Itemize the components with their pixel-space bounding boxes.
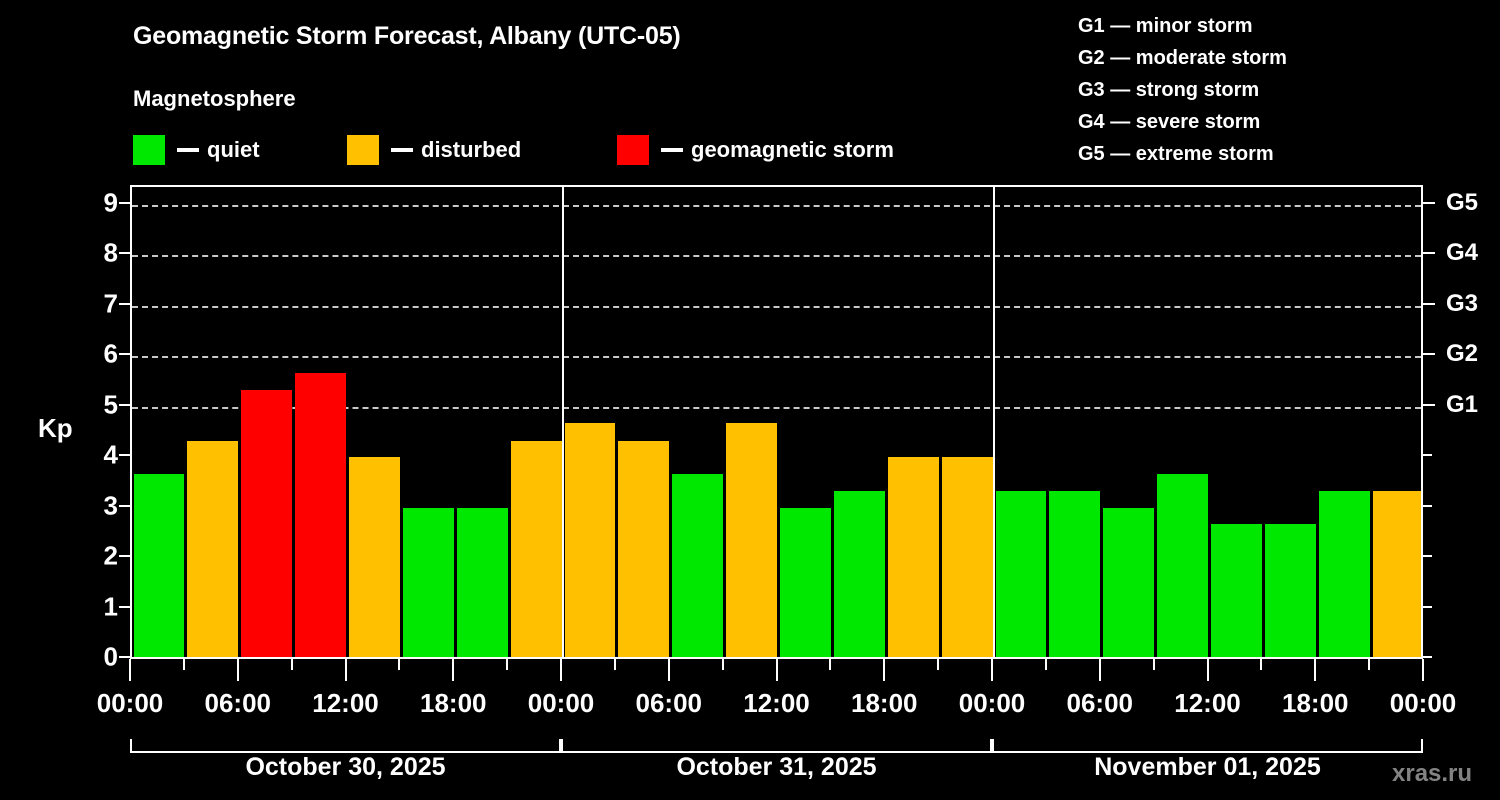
y-tick-label-3: 3	[78, 490, 118, 521]
bar	[618, 441, 669, 659]
bar	[834, 491, 885, 659]
x-tick-minor	[183, 659, 185, 670]
bar	[457, 508, 508, 659]
legend-dash-icon	[391, 148, 413, 152]
bar	[1319, 491, 1370, 659]
right-tick-mark-1	[1423, 606, 1432, 608]
x-tick-major	[129, 659, 131, 681]
y-tick-label-0: 0	[78, 642, 118, 673]
day-separator	[562, 187, 564, 659]
x-tick-label: 00:00	[959, 688, 1026, 719]
y-tick-mark-4	[119, 454, 130, 456]
legend-label-geomagnetic-storm: geomagnetic storm	[691, 137, 894, 163]
y-tick-mark-7	[119, 303, 130, 305]
bar	[295, 373, 346, 659]
watermark: xras.ru	[1392, 760, 1472, 788]
y-tick-mark-8	[119, 252, 130, 254]
x-tick-label: 12:00	[312, 688, 379, 719]
x-tick-minor	[398, 659, 400, 670]
bar	[511, 441, 562, 659]
x-tick-major	[991, 659, 993, 681]
x-tick-label: 06:00	[636, 688, 703, 719]
x-tick-label: 12:00	[1174, 688, 1241, 719]
y-tick-mark-6	[119, 353, 130, 355]
plot-area	[130, 185, 1423, 659]
right-tick-mark-3	[1423, 505, 1432, 507]
legend-swatch-disturbed	[347, 135, 379, 165]
bar	[1157, 474, 1208, 659]
bar	[888, 457, 939, 659]
legend-item-quiet: quiet	[133, 134, 260, 166]
day-label: October 31, 2025	[676, 753, 876, 782]
g-tick-mark-G3	[1423, 303, 1435, 305]
bar	[1211, 524, 1262, 659]
day-bracket	[992, 739, 1423, 753]
x-tick-major	[668, 659, 670, 681]
x-tick-major	[237, 659, 239, 681]
bar	[187, 441, 238, 659]
y-tick-mark-1	[119, 606, 130, 608]
g-tick-mark-G1	[1423, 404, 1435, 406]
g-scale-line-3: G3 — strong storm	[1078, 74, 1287, 106]
g-scale-line-5: G5 — extreme storm	[1078, 138, 1287, 170]
day-separator	[993, 187, 995, 659]
g-tick-mark-G5	[1423, 202, 1435, 204]
page-title: Geomagnetic Storm Forecast, Albany (UTC-…	[133, 22, 681, 51]
y-tick-mark-3	[119, 505, 130, 507]
bar	[565, 423, 616, 659]
bar	[1103, 508, 1154, 659]
g-scale-line-4: G4 — severe storm	[1078, 106, 1287, 138]
g-scale-line-2: G2 — moderate storm	[1078, 42, 1287, 74]
section-label: Magnetosphere	[133, 86, 296, 112]
gridline-kp-9	[132, 205, 1421, 207]
bar	[726, 423, 777, 659]
x-tick-minor	[291, 659, 293, 670]
x-tick-label: 00:00	[528, 688, 595, 719]
bar	[1049, 491, 1100, 659]
x-tick-minor	[614, 659, 616, 670]
plot-inner	[132, 187, 1421, 659]
x-tick-major	[560, 659, 562, 681]
g-tick-label-G1: G1	[1446, 391, 1478, 419]
bar	[672, 474, 723, 659]
y-tick-label-7: 7	[78, 288, 118, 319]
x-tick-label: 18:00	[1282, 688, 1349, 719]
x-tick-major	[883, 659, 885, 681]
x-tick-major	[345, 659, 347, 681]
y-tick-mark-2	[119, 555, 130, 557]
y-tick-label-1: 1	[78, 591, 118, 622]
day-label: November 01, 2025	[1094, 753, 1321, 782]
bar	[942, 457, 993, 659]
day-bracket	[130, 739, 561, 753]
legend-dash-icon	[661, 148, 683, 152]
x-tick-label: 00:00	[97, 688, 164, 719]
x-tick-major	[1314, 659, 1316, 681]
bar	[780, 508, 831, 659]
x-tick-minor	[829, 659, 831, 670]
x-tick-minor	[1045, 659, 1047, 670]
legend-item-geomagnetic-storm: geomagnetic storm	[617, 134, 894, 166]
x-tick-major	[452, 659, 454, 681]
legend-item-disturbed: disturbed	[347, 134, 521, 166]
bar	[996, 491, 1047, 659]
gridline-kp-8	[132, 255, 1421, 257]
g-tick-label-G2: G2	[1446, 340, 1478, 368]
x-tick-major	[776, 659, 778, 681]
x-tick-minor	[722, 659, 724, 670]
gridline-kp-7	[132, 306, 1421, 308]
x-tick-minor	[1153, 659, 1155, 670]
x-tick-major	[1099, 659, 1101, 681]
bar	[403, 508, 454, 659]
x-tick-label: 12:00	[743, 688, 810, 719]
x-tick-minor	[1260, 659, 1262, 670]
g-scale-legend: G1 — minor stormG2 — moderate stormG3 — …	[1078, 10, 1287, 170]
y-tick-label-4: 4	[78, 440, 118, 471]
bar	[241, 390, 292, 659]
y-tick-mark-5	[119, 404, 130, 406]
x-tick-minor	[937, 659, 939, 670]
day-label: October 30, 2025	[245, 753, 445, 782]
g-tick-label-G3: G3	[1446, 290, 1478, 318]
y-tick-label-8: 8	[78, 238, 118, 269]
x-tick-minor	[506, 659, 508, 670]
right-tick-mark-4	[1423, 454, 1432, 456]
y-tick-label-9: 9	[78, 188, 118, 219]
x-tick-label: 06:00	[205, 688, 272, 719]
y-axis-label: Kp	[38, 413, 73, 444]
y-tick-mark-9	[119, 202, 130, 204]
g-tick-mark-G2	[1423, 353, 1435, 355]
legend-label-disturbed: disturbed	[421, 137, 521, 163]
gridline-kp-6	[132, 356, 1421, 358]
bar	[134, 474, 185, 659]
legend-swatch-geomagnetic-storm	[617, 135, 649, 165]
bar	[349, 457, 400, 659]
g-tick-mark-G4	[1423, 252, 1435, 254]
right-tick-mark-2	[1423, 555, 1432, 557]
y-tick-mark-0	[119, 656, 130, 658]
y-tick-label-5: 5	[78, 389, 118, 420]
chart-canvas: Geomagnetic Storm Forecast, Albany (UTC-…	[0, 0, 1500, 800]
bar	[1373, 491, 1421, 659]
y-tick-label-6: 6	[78, 339, 118, 370]
g-tick-label-G4: G4	[1446, 239, 1478, 267]
x-tick-major	[1422, 659, 1424, 681]
x-tick-label: 06:00	[1067, 688, 1134, 719]
x-tick-label: 18:00	[851, 688, 918, 719]
day-bracket	[561, 739, 992, 753]
right-tick-mark-0	[1423, 656, 1432, 658]
legend-swatch-quiet	[133, 135, 165, 165]
x-tick-major	[1207, 659, 1209, 681]
bar	[1265, 524, 1316, 659]
g-tick-label-G5: G5	[1446, 189, 1478, 217]
y-tick-label-2: 2	[78, 541, 118, 572]
legend-label-quiet: quiet	[207, 137, 260, 163]
legend-dash-icon	[177, 148, 199, 152]
x-tick-minor	[1368, 659, 1370, 670]
x-tick-label: 18:00	[420, 688, 487, 719]
x-tick-label: 00:00	[1390, 688, 1457, 719]
g-scale-line-1: G1 — minor storm	[1078, 10, 1287, 42]
